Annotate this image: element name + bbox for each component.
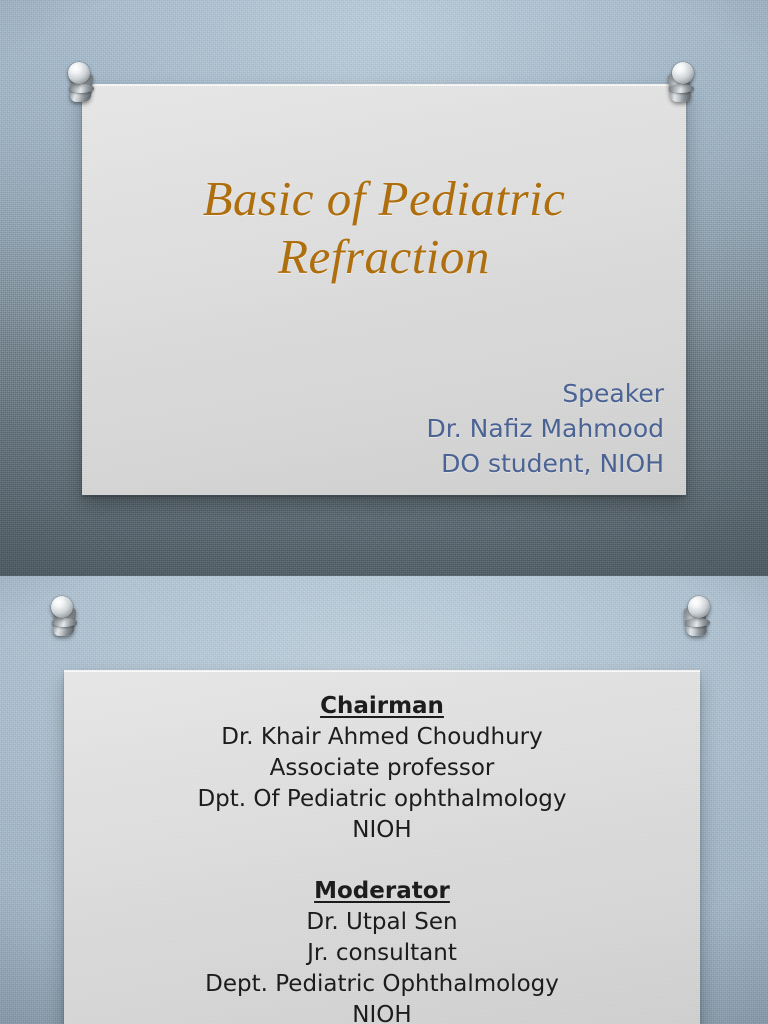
title-line-2: Refraction xyxy=(116,228,652,286)
chairman-group: Chairman Dr. Khair Ahmed Choudhury Assoc… xyxy=(82,691,682,846)
slide-paper-panel: Chairman Dr. Khair Ahmed Choudhury Assoc… xyxy=(64,670,700,1024)
slide-deck-page: Basic of Pediatric Refraction Speaker Dr… xyxy=(0,0,768,1024)
moderator-name: Dr. Utpal Sen xyxy=(82,907,682,938)
speaker-affiliation: DO student, NIOH xyxy=(426,446,664,481)
speaker-block: Speaker Dr. Nafiz Mahmood DO student, NI… xyxy=(426,376,664,481)
credits-block: Chairman Dr. Khair Ahmed Choudhury Assoc… xyxy=(64,691,700,1024)
slide-title-block: Basic of Pediatric Refraction xyxy=(82,170,686,286)
moderator-group: Moderator Dr. Utpal Sen Jr. consultant D… xyxy=(82,876,682,1024)
speaker-name: Dr. Nafiz Mahmood xyxy=(426,411,664,446)
chairman-designation: Associate professor xyxy=(82,753,682,784)
chairman-name: Dr. Khair Ahmed Choudhury xyxy=(82,722,682,753)
moderator-department: Dept. Pediatric Ophthalmology xyxy=(82,969,682,1000)
moderator-institute: NIOH xyxy=(82,1000,682,1024)
moderator-heading: Moderator xyxy=(82,876,682,907)
slide-credits: Chairman Dr. Khair Ahmed Choudhury Assoc… xyxy=(0,576,768,1024)
chairman-institute: NIOH xyxy=(82,815,682,846)
speaker-label: Speaker xyxy=(426,376,664,411)
title-line-1: Basic of Pediatric xyxy=(116,170,652,228)
moderator-designation: Jr. consultant xyxy=(82,938,682,969)
slide-paper-panel: Basic of Pediatric Refraction Speaker Dr… xyxy=(82,84,686,495)
chairman-heading: Chairman xyxy=(82,691,682,722)
slide-title: Basic of Pediatric Refraction Speaker Dr… xyxy=(0,0,768,576)
chairman-department: Dpt. Of Pediatric ophthalmology xyxy=(82,784,682,815)
